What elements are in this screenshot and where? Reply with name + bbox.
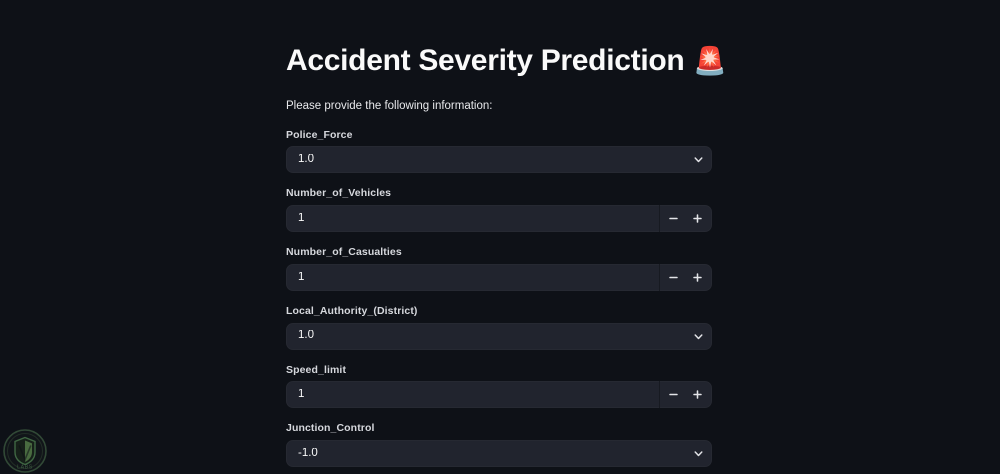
shield-badge-logo: LABS	[2, 428, 48, 474]
select-selected-value: -1.0	[287, 448, 685, 460]
main-content: Accident Severity Prediction 🚨 Please pr…	[286, 0, 712, 474]
form-instruction-text: Please provide the following information…	[286, 98, 712, 115]
number-stepper-input[interactable]: 1	[286, 264, 712, 291]
app-root: Accident Severity Prediction 🚨 Please pr…	[0, 0, 1000, 474]
stepper-buttons	[659, 382, 711, 407]
form-field-group: Speed_limit1	[286, 363, 712, 409]
stepper-divider	[659, 381, 660, 408]
form-field-group: Junction_Control-1.0	[286, 421, 712, 467]
form-field-group: Number_of_Casualties1	[286, 245, 712, 291]
chevron-down-icon[interactable]	[685, 324, 711, 349]
stepper-divider	[659, 264, 660, 291]
number-input-value[interactable]: 1	[287, 272, 659, 284]
form-fields: Police_Force1.0Number_of_Vehicles1Number…	[286, 128, 712, 474]
decrement-button[interactable]	[661, 206, 685, 231]
number-stepper-input[interactable]: 1	[286, 205, 712, 232]
field-label: Number_of_Vehicles	[286, 186, 712, 201]
stepper-divider	[659, 205, 660, 232]
form-field-group: Number_of_Vehicles1	[286, 186, 712, 232]
select-input[interactable]: 1.0	[286, 323, 712, 350]
increment-button[interactable]	[685, 382, 709, 407]
field-label: Junction_Control	[286, 421, 712, 436]
select-input[interactable]: -1.0	[286, 440, 712, 467]
field-label: Speed_limit	[286, 363, 712, 378]
number-input-value[interactable]: 1	[287, 389, 659, 401]
field-label: Number_of_Casualties	[286, 245, 712, 260]
decrement-button[interactable]	[661, 382, 685, 407]
increment-button[interactable]	[685, 206, 709, 231]
form-field-group: Police_Force1.0	[286, 128, 712, 174]
stepper-buttons	[659, 265, 711, 290]
stepper-buttons	[659, 206, 711, 231]
select-selected-value: 1.0	[287, 330, 685, 342]
page-title: Accident Severity Prediction 🚨	[286, 44, 712, 79]
field-label: Local_Authority_(District)	[286, 304, 712, 319]
rotating-light-icon: 🚨	[693, 48, 726, 75]
page-title-text: Accident Severity Prediction	[286, 44, 684, 79]
field-label: Police_Force	[286, 128, 712, 143]
svg-text:LABS: LABS	[17, 465, 33, 471]
decrement-button[interactable]	[661, 265, 685, 290]
increment-button[interactable]	[685, 265, 709, 290]
number-input-value[interactable]: 1	[287, 213, 659, 225]
select-input[interactable]: 1.0	[286, 146, 712, 173]
chevron-down-icon[interactable]	[685, 147, 711, 172]
number-stepper-input[interactable]: 1	[286, 381, 712, 408]
chevron-down-icon[interactable]	[685, 441, 711, 466]
form-field-group: Local_Authority_(District)1.0	[286, 304, 712, 350]
select-selected-value: 1.0	[287, 154, 685, 166]
